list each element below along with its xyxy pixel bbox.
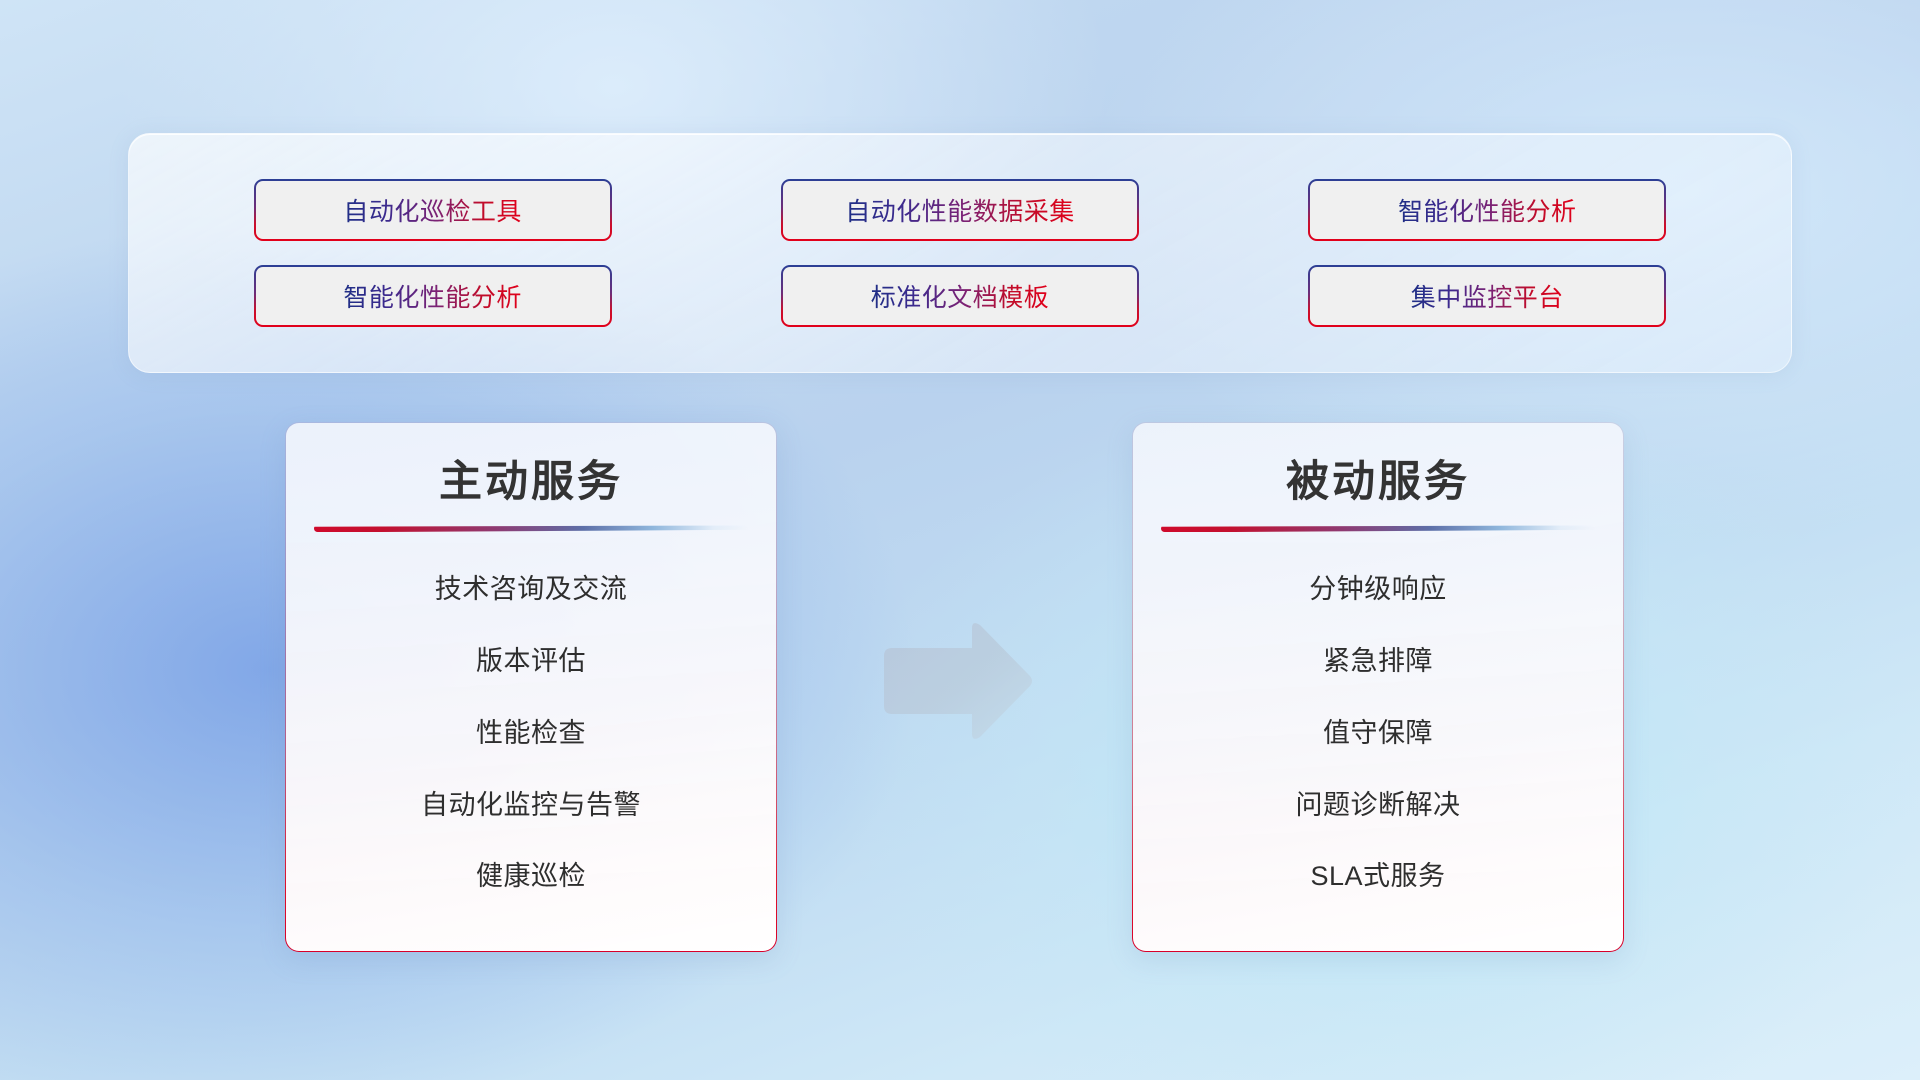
capability-chip-label: 智能化性能分析 bbox=[343, 278, 522, 314]
capability-chip[interactable]: 智能化性能分析 bbox=[254, 265, 612, 327]
capability-chip-label: 自动化性能数据采集 bbox=[845, 192, 1075, 228]
capability-chip-label: 智能化性能分析 bbox=[1398, 192, 1577, 228]
card-list-item: 技术咨询及交流 bbox=[435, 554, 628, 626]
card-list-item: 性能检查 bbox=[476, 698, 586, 770]
arrow-right-icon bbox=[876, 620, 1036, 742]
capability-panel: 自动化巡检工具 自动化性能数据采集 智能化性能分析 智能化性能分析 标准化文档模… bbox=[128, 133, 1792, 373]
capability-chip[interactable]: 智能化性能分析 bbox=[1308, 179, 1666, 241]
capability-chip-label: 标准化文档模板 bbox=[871, 278, 1050, 314]
card-divider bbox=[314, 525, 748, 532]
capability-chip[interactable]: 标准化文档模板 bbox=[781, 265, 1139, 327]
card-title: 被动服务 bbox=[1286, 458, 1470, 507]
capability-chip[interactable]: 集中监控平台 bbox=[1308, 265, 1666, 327]
service-card-proactive[interactable]: 主动服务 技术咨询及交流 版本评估 性能检查 自动化监控与告警 健康巡检 bbox=[285, 422, 777, 952]
card-list-item: 版本评估 bbox=[476, 626, 586, 698]
card-item-list: 分钟级响应 紧急排障 值守保障 问题诊断解决 SLA式服务 bbox=[1161, 554, 1595, 912]
card-list-item: 值守保障 bbox=[1323, 698, 1433, 770]
card-divider bbox=[1161, 525, 1595, 532]
capability-row-2: 智能化性能分析 标准化文档模板 集中监控平台 bbox=[129, 265, 1791, 327]
card-list-item: 自动化监控与告警 bbox=[421, 770, 641, 842]
card-list-item: 分钟级响应 bbox=[1309, 554, 1447, 626]
card-list-item: 问题诊断解决 bbox=[1296, 770, 1461, 842]
card-title: 主动服务 bbox=[439, 458, 623, 507]
capability-chip-label: 集中监控平台 bbox=[1411, 278, 1564, 314]
service-card-reactive[interactable]: 被动服务 分钟级响应 紧急排障 值守保障 问题诊断解决 SLA式服务 bbox=[1132, 422, 1624, 952]
capability-chip[interactable]: 自动化巡检工具 bbox=[254, 179, 612, 241]
card-list-item: 紧急排障 bbox=[1323, 626, 1433, 698]
card-list-item: 健康巡检 bbox=[476, 841, 586, 913]
capability-chip[interactable]: 自动化性能数据采集 bbox=[781, 179, 1139, 241]
card-item-list: 技术咨询及交流 版本评估 性能检查 自动化监控与告警 健康巡检 bbox=[314, 554, 748, 912]
card-list-item: SLA式服务 bbox=[1310, 841, 1445, 913]
slide-canvas: 自动化巡检工具 自动化性能数据采集 智能化性能分析 智能化性能分析 标准化文档模… bbox=[0, 0, 1920, 1080]
capability-chip-label: 自动化巡检工具 bbox=[343, 192, 522, 228]
capability-row-1: 自动化巡检工具 自动化性能数据采集 智能化性能分析 bbox=[129, 179, 1791, 241]
